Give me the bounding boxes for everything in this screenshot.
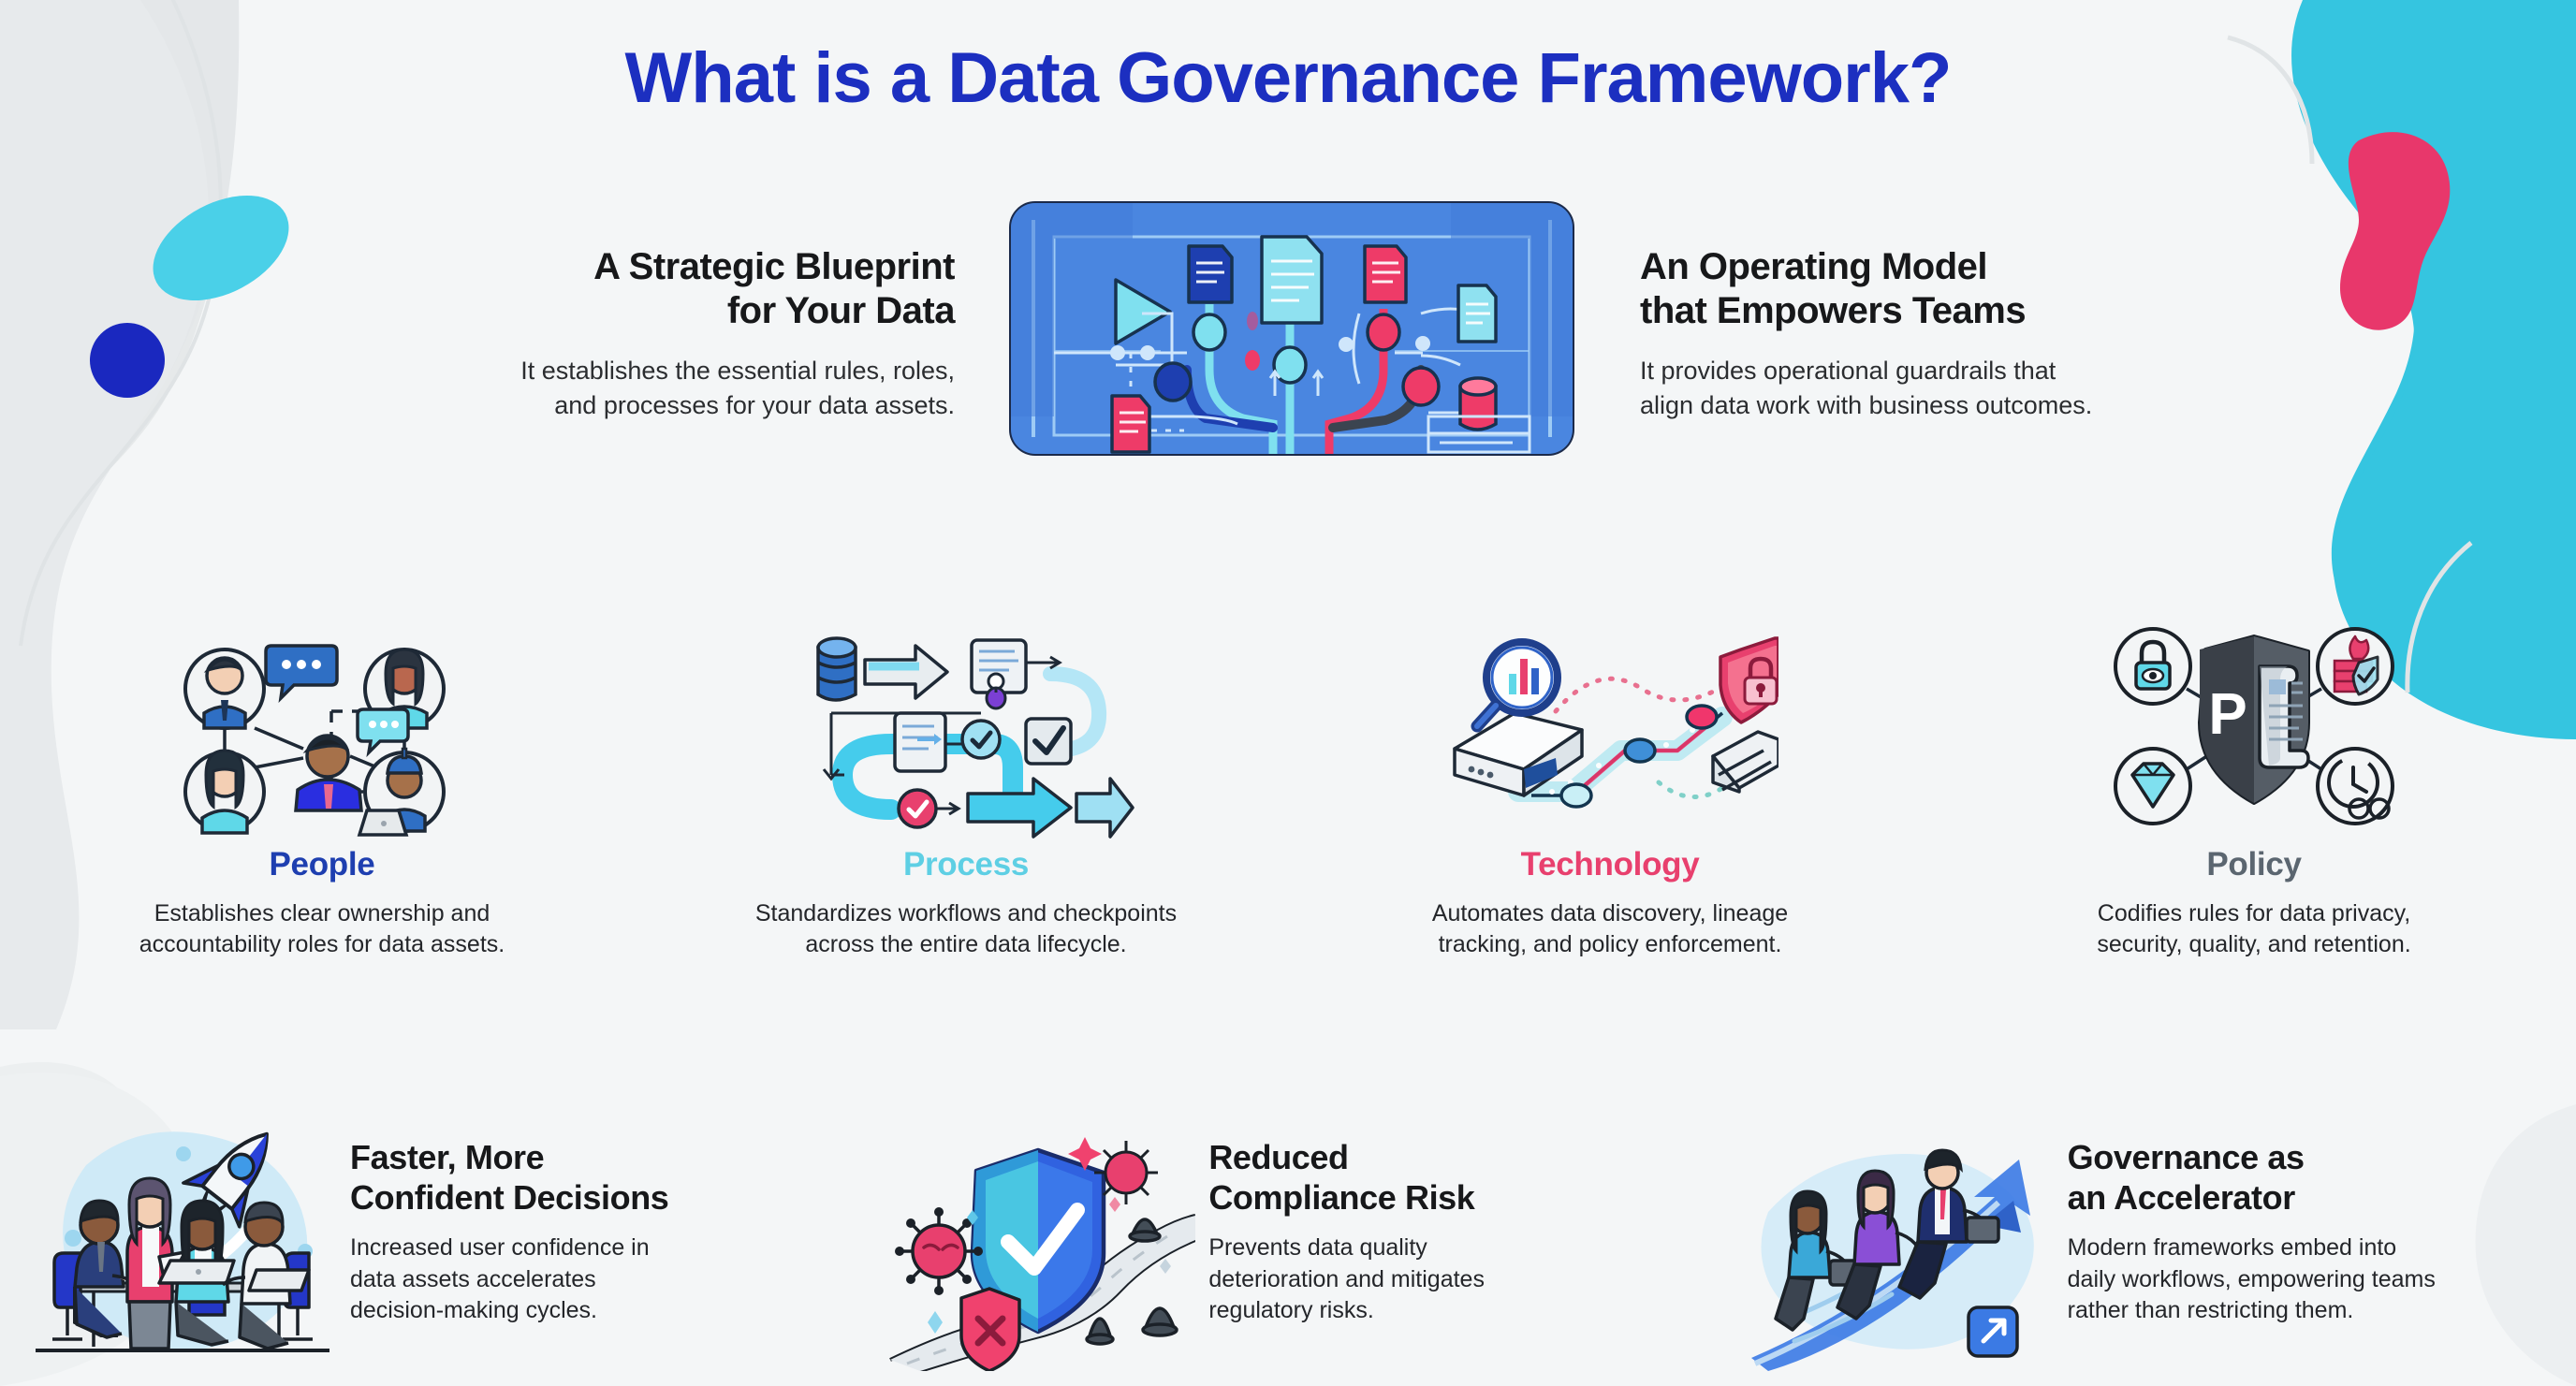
benefit-1-body-line1: Increased user confidence in <box>350 1233 668 1264</box>
intro-right-heading-line1: An Operating Model <box>1640 245 2248 289</box>
pillar-process-title: Process <box>903 846 1029 883</box>
pillar-process-desc: Standardizes workflows and checkpoints a… <box>732 898 1200 960</box>
pillar-people-desc-line1: Establishes clear ownership and <box>88 898 556 929</box>
benefit-faster-decisions-body: Increased user confidence in data assets… <box>350 1233 668 1327</box>
benefit-2-body-line3: regulatory risks. <box>1208 1295 1485 1327</box>
policy-shield-icon: P <box>2086 608 2422 842</box>
intro-right-body-line1: It provides operational guardrails that <box>1640 354 2248 387</box>
benefit-reduced-compliance-risk: Reduced Compliance Risk Prevents data qu… <box>858 1100 1717 1386</box>
people-network-icon <box>154 608 490 842</box>
benefit-3-heading-line2: an Accelerator <box>2068 1177 2436 1218</box>
benefit-governance-accelerator: Governance as an Accelerator Modern fram… <box>1718 1100 2576 1386</box>
data-blueprint-panel-icon <box>992 182 1591 482</box>
svg-text:P: P <box>2208 682 2247 747</box>
benefit-1-body-line2: data assets accelerates <box>350 1264 668 1296</box>
benefit-1-heading-line2: Confident Decisions <box>350 1177 668 1218</box>
intro-left-block: A Strategic Blueprint for Your Data It e… <box>374 245 955 422</box>
benefit-1-body-line3: decision-making cycles. <box>350 1295 668 1327</box>
benefits-row: Faster, More Confident Decisions Increas… <box>0 1100 2576 1386</box>
pillar-policy-desc: Codifies rules for data privacy, securit… <box>2020 898 2488 960</box>
intro-right-heading: An Operating Model that Empowers Teams <box>1640 245 2248 333</box>
pillar-policy-desc-line2: security, quality, and retention. <box>2020 929 2488 960</box>
benefit-faster-decisions-heading: Faster, More Confident Decisions <box>350 1137 668 1218</box>
data-discovery-lineage-icon <box>1442 608 1778 842</box>
pillar-technology-desc-line1: Automates data discovery, lineage <box>1376 898 1844 929</box>
intro-left-body: It establishes the essential rules, role… <box>374 354 955 421</box>
intro-left-heading-line1: A Strategic Blueprint <box>374 245 955 289</box>
benefit-reduced-compliance-risk-body: Prevents data quality deterioration and … <box>1208 1233 1485 1327</box>
pillar-policy: P <box>1932 608 2576 1029</box>
benefit-governance-accelerator-heading: Governance as an Accelerator <box>2068 1137 2436 1218</box>
page-title: What is a Data Governance Framework? <box>0 37 2576 119</box>
intro-left-heading: A Strategic Blueprint for Your Data <box>374 245 955 333</box>
benefit-3-heading-line1: Governance as <box>2068 1137 2436 1177</box>
benefit-governance-accelerator-text: Governance as an Accelerator Modern fram… <box>2055 1100 2436 1327</box>
decor-dot-blue <box>90 323 165 398</box>
intro-left-body-line1: It establishes the essential rules, role… <box>374 354 955 387</box>
running-team-arrow-icon <box>1746 1100 2055 1371</box>
pillar-technology-desc-line2: tracking, and policy enforcement. <box>1376 929 1844 960</box>
pillar-people: People Establishes clear ownership and a… <box>0 608 644 1029</box>
benefit-faster-decisions: Faster, More Confident Decisions Increas… <box>0 1100 858 1386</box>
benefit-faster-decisions-text: Faster, More Confident Decisions Increas… <box>337 1100 668 1327</box>
pillar-policy-desc-line1: Codifies rules for data privacy, <box>2020 898 2488 929</box>
pillar-technology: Technology Automates data discovery, lin… <box>1288 608 1932 1029</box>
intro-right-block: An Operating Model that Empowers Teams I… <box>1640 245 2248 422</box>
benefit-2-body-line2: deterioration and mitigates <box>1208 1264 1485 1296</box>
benefit-3-body-line1: Modern frameworks embed into <box>2068 1233 2436 1264</box>
shield-road-hazards-icon <box>886 1100 1195 1371</box>
team-meeting-rocket-icon <box>28 1100 337 1371</box>
intro-right-heading-line2: that Empowers Teams <box>1640 289 2248 333</box>
intro-left-heading-line2: for Your Data <box>374 289 955 333</box>
pillar-process-desc-line1: Standardizes workflows and checkpoints <box>732 898 1200 929</box>
pillar-technology-desc: Automates data discovery, lineage tracki… <box>1376 898 1844 960</box>
pillar-people-title: People <box>270 846 375 883</box>
benefit-reduced-compliance-risk-heading: Reduced Compliance Risk <box>1208 1137 1485 1218</box>
benefit-1-heading-line1: Faster, More <box>350 1137 668 1177</box>
benefit-governance-accelerator-body: Modern frameworks embed into daily workf… <box>2068 1233 2436 1327</box>
pillars-row: People Establishes clear ownership and a… <box>0 608 2576 1029</box>
benefit-2-heading-line2: Compliance Risk <box>1208 1177 1485 1218</box>
intro-left-body-line2: and processes for your data assets. <box>374 388 955 422</box>
pillar-policy-title: Policy <box>2206 846 2301 883</box>
benefit-3-body-line3: rather than restricting them. <box>2068 1295 2436 1327</box>
intro-right-body-line2: align data work with business outcomes. <box>1640 388 2248 422</box>
pillar-people-desc-line2: accountability roles for data assets. <box>88 929 556 960</box>
workflow-pipeline-icon <box>798 608 1134 842</box>
benefit-reduced-compliance-risk-text: Reduced Compliance Risk Prevents data qu… <box>1195 1100 1485 1327</box>
benefit-2-body-line1: Prevents data quality <box>1208 1233 1485 1264</box>
pillar-people-desc: Establishes clear ownership and accounta… <box>88 898 556 960</box>
pillar-process: Process Standardizes workflows and check… <box>644 608 1288 1029</box>
benefit-2-heading-line1: Reduced <box>1208 1137 1485 1177</box>
pillar-technology-title: Technology <box>1521 846 1700 883</box>
benefit-3-body-line2: daily workflows, empowering teams <box>2068 1264 2436 1296</box>
intro-right-body: It provides operational guardrails that … <box>1640 354 2248 421</box>
pillar-process-desc-line2: across the entire data lifecycle. <box>732 929 1200 960</box>
